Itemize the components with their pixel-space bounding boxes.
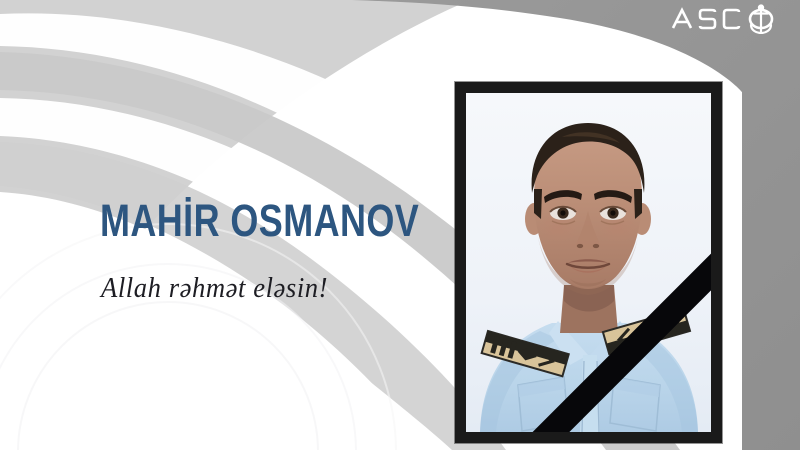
logo-letter-s [700,10,715,28]
asco-logo[interactable] [665,4,783,34]
portrait-illustration [466,93,711,432]
portrait-pupil-right [610,210,615,215]
portrait-nostril-left [577,244,583,248]
asco-logo-mark [667,4,783,34]
memorial-banner: MAHİR OSMANOV Allah rəhmət eləsin! [0,0,800,450]
portrait-pupil-left [560,210,565,215]
logo-letter-c [724,10,739,28]
logo-letter-a [673,10,691,28]
portrait-photo [466,93,711,432]
deceased-name: MAHİR OSMANOV [100,196,419,245]
portrait-button [587,396,592,401]
anchor-icon [751,6,771,34]
portrait-nostril-right [593,244,599,248]
portrait-frame [455,82,722,443]
memorial-tagline: Allah rəhmət eləsin! [101,272,328,306]
